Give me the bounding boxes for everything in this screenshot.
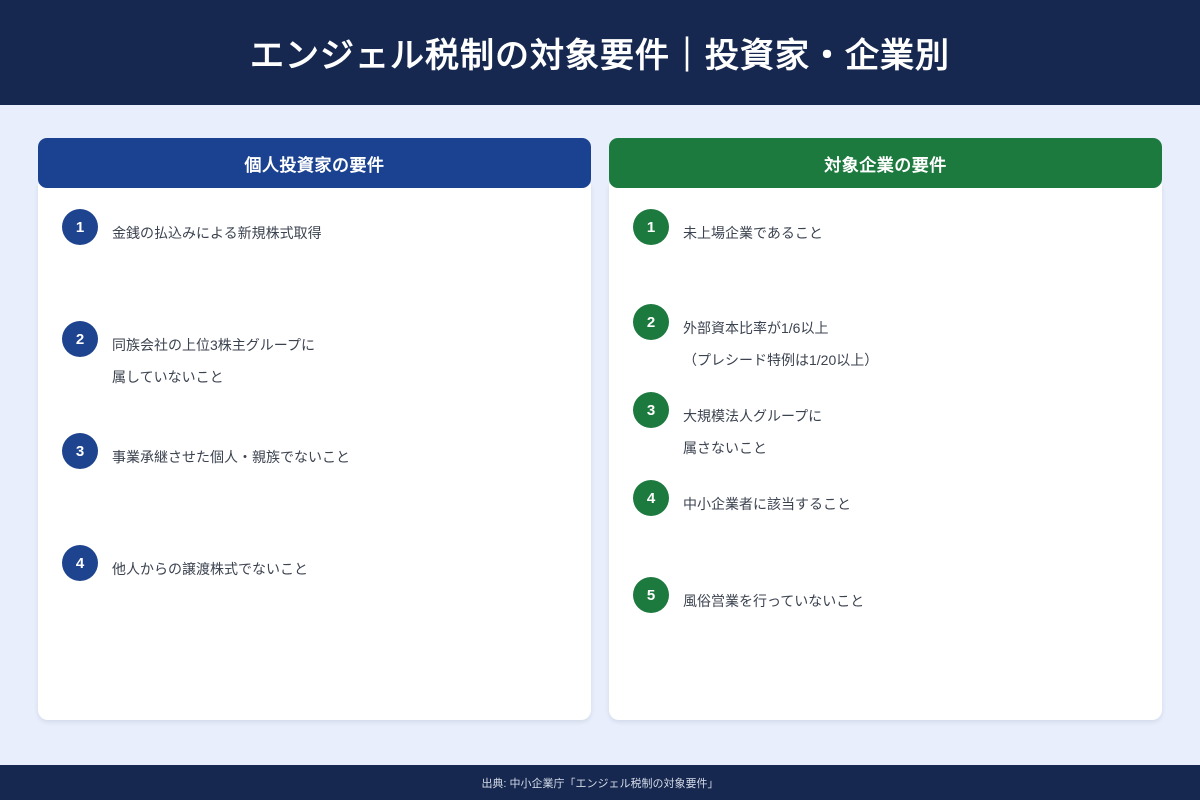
item-text: 未上場企業であること [683,217,823,249]
item-number-badge: 3 [633,392,669,428]
card-header-target-company: 対象企業の要件 [609,138,1162,188]
title-band: エンジェル税制の対象要件｜投資家・企業別 [0,0,1200,105]
list-item: 5 風俗営業を行っていないこと [633,585,1138,617]
list-item: 2 同族会社の上位3株主グループに 属していないこと [62,329,567,393]
card-body-individual-investor: 1 金銭の払込みによる新規株式取得 2 同族会社の上位3株主グループに 属してい… [38,184,591,720]
item-text: 同族会社の上位3株主グループに 属していないこと [112,329,315,393]
source-note: 出典: 中小企業庁「エンジェル税制の対象要件」 [481,775,718,791]
item-text: 他人からの譲渡株式でないこと [112,553,308,585]
list-item: 3 事業承継させた個人・親族でないこと [62,441,567,473]
requirements-columns: 個人投資家の要件 1 金銭の払込みによる新規株式取得 2 同族会社の上位3株主グ… [0,105,1200,765]
item-text: 外部資本比率が1/6以上 （プレシード特例は1/20以上） [683,312,878,376]
list-item: 1 未上場企業であること [633,217,1138,249]
card-body-target-company: 1 未上場企業であること 2 外部資本比率が1/6以上 （プレシード特例は1/2… [609,184,1162,720]
item-number-badge: 3 [62,433,98,469]
item-number-badge: 5 [633,577,669,613]
list-item: 4 中小企業者に該当すること [633,488,1138,520]
item-number-badge: 1 [62,209,98,245]
item-number-badge: 2 [62,321,98,357]
item-number-badge: 2 [633,304,669,340]
card-target-company: 対象企業の要件 1 未上場企業であること 2 外部資本比率が1/6以上 （プレシ… [609,138,1162,720]
item-number-badge: 4 [633,480,669,516]
item-text: 中小企業者に該当すること [683,488,851,520]
card-individual-investor: 個人投資家の要件 1 金銭の払込みによる新規株式取得 2 同族会社の上位3株主グ… [38,138,591,720]
list-item: 1 金銭の払込みによる新規株式取得 [62,217,567,249]
item-number-badge: 1 [633,209,669,245]
list-item: 3 大規模法人グループに 属さないこと [633,400,1138,464]
footer-band: 出典: 中小企業庁「エンジェル税制の対象要件」 [0,765,1200,800]
item-number-badge: 4 [62,545,98,581]
list-item: 4 他人からの譲渡株式でないこと [62,553,567,585]
item-text: 事業承継させた個人・親族でないこと [112,441,350,473]
item-text: 金銭の払込みによる新規株式取得 [112,217,322,249]
card-header-individual-investor: 個人投資家の要件 [38,138,591,188]
item-text: 風俗営業を行っていないこと [683,585,864,617]
card-header-label: 個人投資家の要件 [245,151,385,176]
list-item: 2 外部資本比率が1/6以上 （プレシード特例は1/20以上） [633,312,1138,376]
item-text: 大規模法人グループに 属さないこと [683,400,822,464]
page-title: エンジェル税制の対象要件｜投資家・企業別 [250,28,950,77]
card-header-label: 対象企業の要件 [824,151,947,176]
